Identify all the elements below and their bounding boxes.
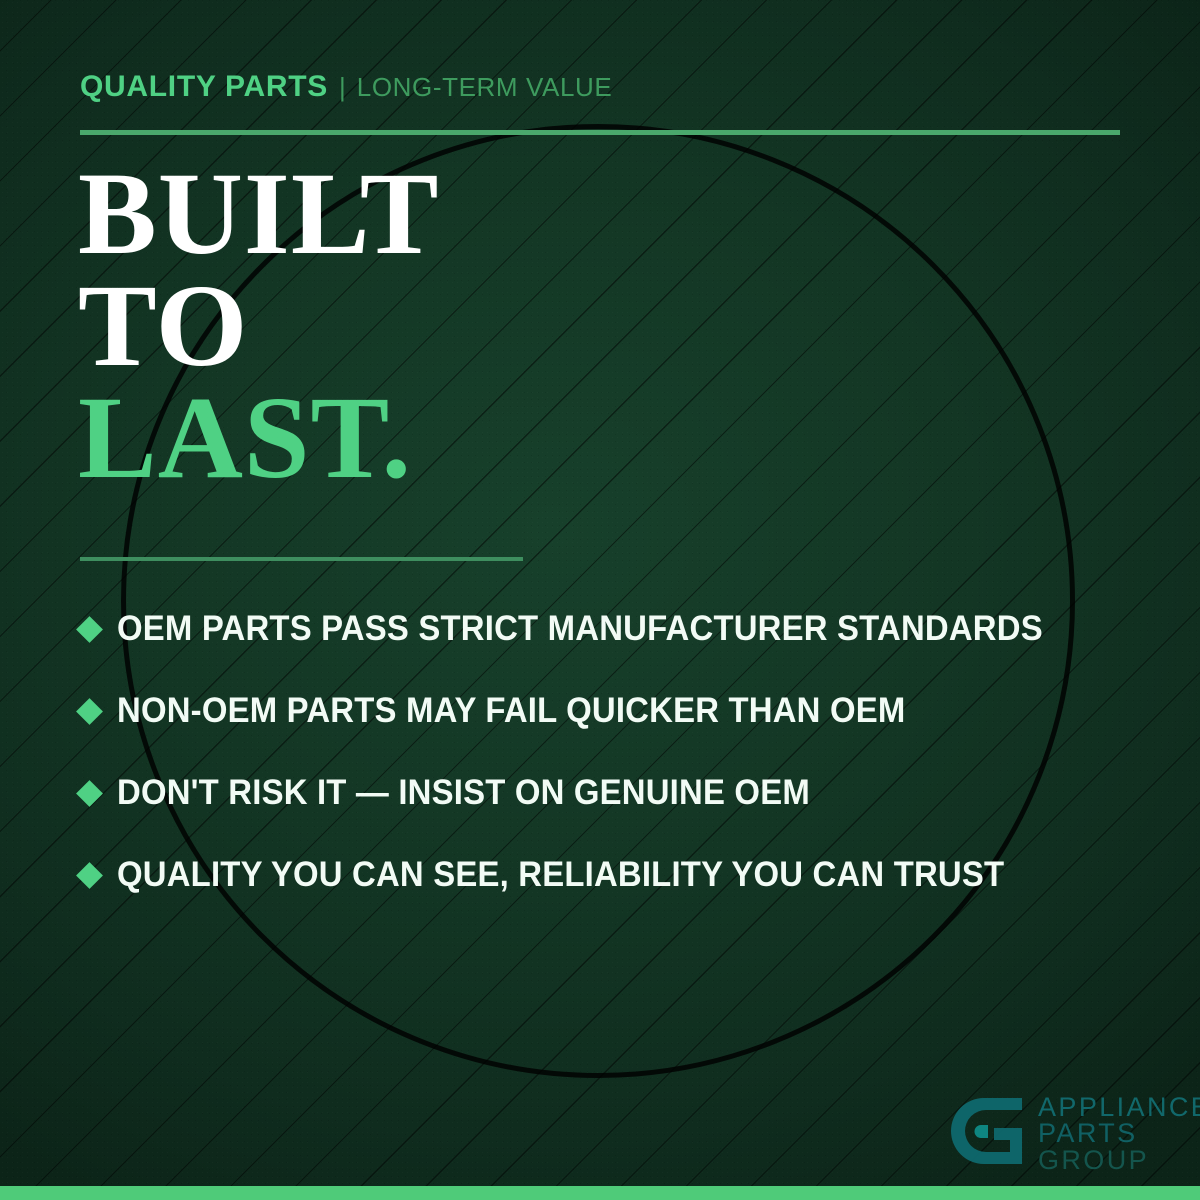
brand-logo: APPLIANCE PARTS GROUP — [948, 1092, 1200, 1175]
brand-logo-wordmark: APPLIANCE PARTS GROUP — [1038, 1092, 1200, 1173]
letter-g-mark-icon — [948, 1092, 1026, 1175]
headline-line-1: BUILT — [78, 158, 439, 270]
poster-content: QUALITY PARTS | LONG-TERM VALUE BUILT TO… — [0, 0, 1200, 1200]
list-item-label: NON-OEM PARTS MAY FAIL QUICKER THAN OEM — [117, 691, 905, 731]
page-title: BUILT TO LAST. — [78, 158, 439, 494]
list-item: OEM PARTS PASS STRICT MANUFACTURER STAND… — [80, 588, 1140, 670]
headline-divider — [80, 557, 523, 561]
eyebrow-separator: | — [339, 74, 346, 100]
headline-line-2: TO — [78, 270, 439, 382]
eyebrow-sub-label: LONG-TERM VALUE — [357, 74, 613, 100]
header-divider — [80, 130, 1120, 135]
headline-line-3: LAST. — [78, 382, 439, 494]
diamond-icon — [76, 698, 103, 725]
eyebrow-main-label: QUALITY PARTS — [80, 72, 328, 102]
diamond-icon — [76, 780, 103, 807]
list-item: QUALITY YOU CAN SEE, RELIABILITY YOU CAN… — [80, 834, 1140, 916]
brand-logo-line-1: APPLIANCE — [1038, 1094, 1200, 1120]
list-item: NON-OEM PARTS MAY FAIL QUICKER THAN OEM — [80, 670, 1140, 752]
eyebrow: QUALITY PARTS | LONG-TERM VALUE — [80, 72, 612, 102]
brand-logo-line-2: PARTS — [1038, 1120, 1200, 1146]
list-item-label: DON'T RISK IT — INSIST ON GENUINE OEM — [117, 773, 810, 813]
poster-canvas: QUALITY PARTS | LONG-TERM VALUE BUILT TO… — [0, 0, 1200, 1200]
list-item: DON'T RISK IT — INSIST ON GENUINE OEM — [80, 752, 1140, 834]
bottom-accent-bar — [0, 1186, 1200, 1200]
benefit-list: OEM PARTS PASS STRICT MANUFACTURER STAND… — [80, 588, 1140, 916]
list-item-label: OEM PARTS PASS STRICT MANUFACTURER STAND… — [117, 609, 1043, 649]
diamond-icon — [76, 862, 103, 889]
list-item-label: QUALITY YOU CAN SEE, RELIABILITY YOU CAN… — [117, 855, 1004, 895]
diamond-icon — [76, 616, 103, 643]
brand-logo-line-3: GROUP — [1038, 1147, 1200, 1173]
